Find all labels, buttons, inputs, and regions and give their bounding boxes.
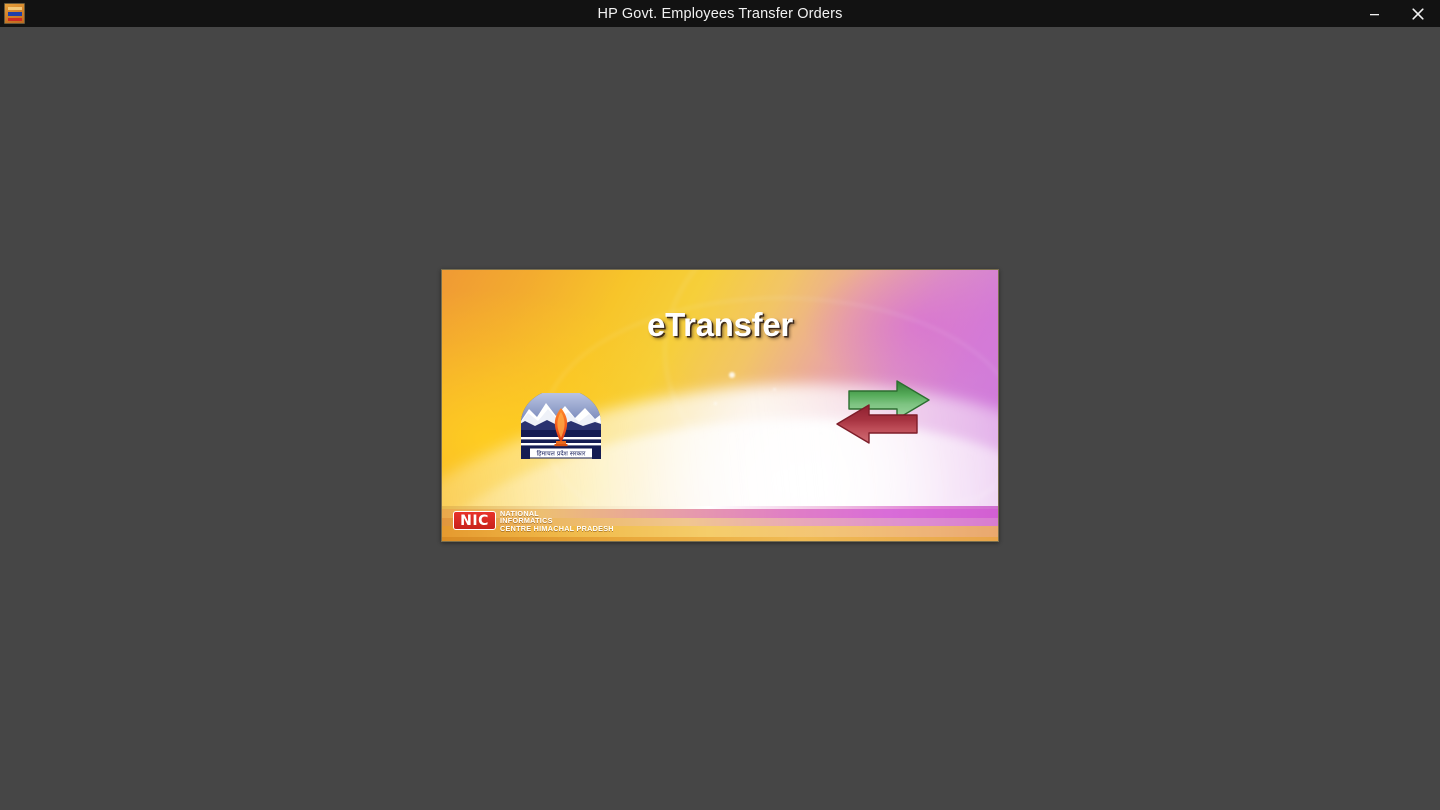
transfer-arrows-graphic xyxy=(831,378,935,450)
app-icon-stripe-bottom xyxy=(8,18,22,21)
nic-logo-text: NIC xyxy=(460,514,489,528)
minimize-icon xyxy=(1369,8,1380,19)
desktop-background: eTransfer xyxy=(0,27,1440,810)
app-icon-stripe-middle xyxy=(8,12,22,16)
svg-text:हिमाचल प्रदेश सरकार: हिमाचल प्रदेश सरकार xyxy=(537,450,586,458)
sparkle-dot-1 xyxy=(729,372,735,378)
nic-logo: NIC xyxy=(453,511,496,530)
nic-wordmark: NATIONAL INFORMATICS CENTRE HIMACHAL PRA… xyxy=(500,510,614,532)
close-icon xyxy=(1412,8,1424,20)
sparkle-dot-2 xyxy=(714,402,717,405)
etransfer-splash-window[interactable]: eTransfer xyxy=(441,269,999,542)
sparkle-dot-3 xyxy=(773,388,776,391)
window-title: HP Govt. Employees Transfer Orders xyxy=(0,6,1440,22)
minimize-button[interactable] xyxy=(1352,0,1396,27)
footer-stripe-5 xyxy=(442,537,998,541)
nic-wordmark-line-3: CENTRE HIMACHAL PRADESH xyxy=(500,525,614,532)
app-icon-stripe-top xyxy=(8,7,22,10)
window-titlebar: HP Govt. Employees Transfer Orders xyxy=(0,0,1440,27)
close-button[interactable] xyxy=(1396,0,1440,27)
splash-footer-band: NIC NATIONAL INFORMATICS CENTRE HIMACHAL… xyxy=(442,506,998,541)
etransfer-app-icon[interactable] xyxy=(4,3,25,24)
window-controls xyxy=(1352,0,1440,27)
splash-app-title: eTransfer xyxy=(442,306,998,344)
himachal-pradesh-government-emblem: हिमाचल प्रदेश सरकार xyxy=(515,393,607,461)
